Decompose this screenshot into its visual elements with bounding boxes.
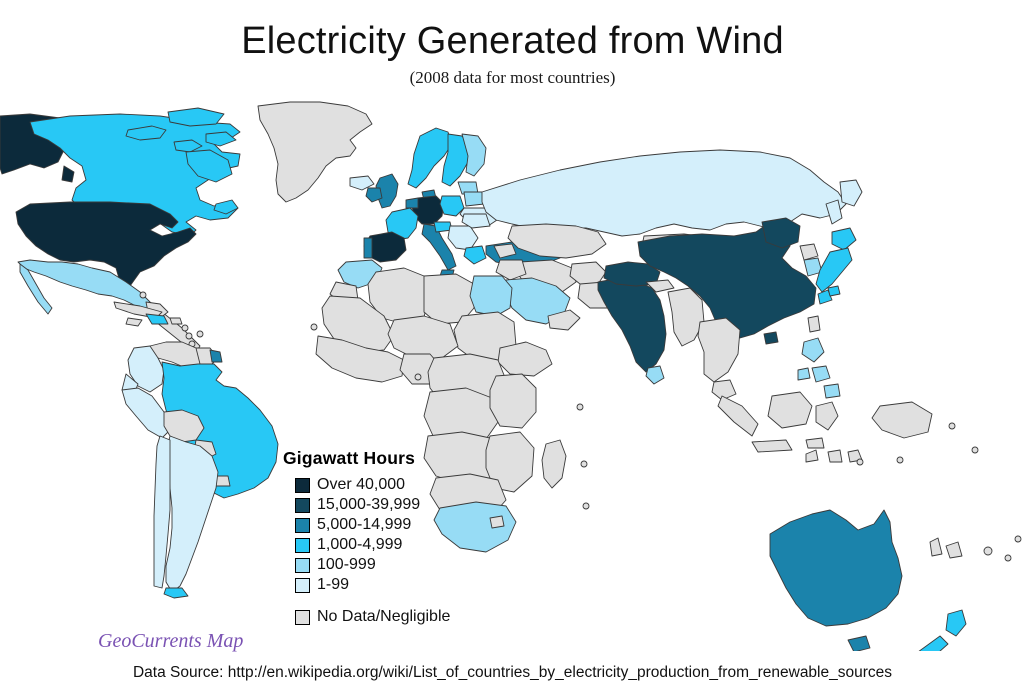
region-new-zealand-north (946, 610, 966, 636)
legend-item-5000-14999: 5,000-14,999 (295, 515, 543, 535)
region-bermuda-dot (311, 324, 317, 330)
region-philippines-1 (802, 338, 824, 362)
region-east-africa (490, 374, 536, 428)
map-page: Electricity Generated from Wind (2008 da… (0, 0, 1025, 691)
legend-label-no-data: No Data/Negligible (317, 609, 450, 625)
region-pacific-dot-3 (897, 457, 903, 463)
region-pacific-dot-4 (972, 447, 978, 453)
page-title: Electricity Generated from Wind (0, 20, 1025, 63)
region-sumatra (718, 396, 758, 436)
legend-swatch-1-99 (295, 578, 310, 593)
region-samoa-dot (1015, 536, 1021, 542)
region-afghanistan (570, 262, 606, 284)
region-indian-ocean-dot-2 (581, 461, 587, 467)
region-caribbean-dot-3 (186, 333, 192, 339)
region-australia (770, 510, 902, 626)
region-japan-hokkaido (832, 228, 856, 250)
region-philippines-2 (812, 366, 830, 382)
map-legend: Gigawatt Hours Over 40,000 15,000-39,999… (283, 448, 543, 627)
region-papua-new-guinea (872, 402, 932, 438)
region-vanuatu (930, 538, 942, 556)
region-indian-ocean-dot-1 (577, 404, 583, 410)
region-pacific-isl-1 (806, 450, 818, 462)
legend-item-1-99: 1-99 (295, 575, 543, 595)
legend-label-1000-4999: 1,000-4,999 (317, 537, 402, 553)
region-japan-shikoku (828, 286, 840, 296)
legend-swatch-15000-39999 (295, 498, 310, 513)
region-fiji-dot (984, 547, 992, 555)
region-french-guiana (210, 350, 222, 362)
region-thailand-indochina (698, 318, 740, 382)
region-caribbean-dot-6 (197, 331, 203, 337)
region-philippines-4 (824, 384, 840, 398)
legend-swatch-no-data (295, 610, 310, 625)
region-indian-ocean-dot-3 (583, 503, 589, 509)
legend-label-1-99: 1-99 (317, 577, 349, 593)
legend-item-1000-4999: 1,000-4,999 (295, 535, 543, 555)
region-hainan (764, 332, 778, 344)
region-sulawesi (816, 402, 838, 430)
region-greece (464, 246, 486, 264)
map-credit: GeoCurrents Map (98, 630, 243, 653)
region-taiwan (808, 316, 820, 332)
region-tierra-del-fuego (164, 588, 188, 598)
region-new-zealand-south (916, 636, 948, 651)
region-sri-lanka (646, 366, 664, 384)
region-canada-arctic-isl-2 (168, 108, 224, 126)
region-caribbean-dot-2 (182, 325, 188, 331)
legend-item-15000-39999: 15,000-39,999 (295, 495, 543, 515)
region-russia-kamchatka (840, 180, 862, 206)
region-tasmania (848, 636, 870, 651)
region-java (752, 440, 792, 452)
region-tonga-dot (1005, 555, 1011, 561)
region-philippines-3 (798, 368, 810, 380)
legend-swatch-100-999 (295, 558, 310, 573)
region-pacific-dot-1 (949, 423, 955, 429)
legend-swatch-5000-14999 (295, 518, 310, 533)
legend-item-100-999: 100-999 (295, 555, 543, 575)
region-caribbean-dot-1 (140, 292, 146, 298)
legend-item-over-40000: Over 40,000 (295, 475, 543, 495)
region-pacific-dot-2 (857, 459, 863, 465)
page-subtitle: (2008 data for most countries) (0, 68, 1025, 88)
region-timor (806, 438, 824, 448)
region-puerto-rico (170, 318, 182, 324)
region-argentina (166, 436, 218, 592)
legend-label-5000-14999: 5,000-14,999 (317, 517, 411, 533)
region-pacific-isl-2 (828, 450, 842, 462)
region-alaska-panhandle (62, 166, 74, 182)
legend-item-no-data: No Data/Negligible (295, 607, 543, 627)
region-japan-honshu (816, 248, 852, 292)
region-atlantic-island-dot-1 (415, 374, 421, 380)
legend-label-100-999: 100-999 (317, 557, 376, 573)
region-new-caledonia (946, 542, 962, 558)
region-belarus (464, 192, 484, 206)
legend-label-over-40000: Over 40,000 (317, 477, 405, 493)
region-netherlands (406, 198, 418, 208)
region-madagascar (542, 440, 566, 488)
legend-swatch-over-40000 (295, 478, 310, 493)
region-egypt (470, 276, 512, 316)
region-north-korea (800, 244, 818, 260)
region-portugal (364, 238, 372, 258)
legend-label-15000-39999: 15,000-39,999 (317, 497, 420, 513)
legend-swatch-1000-4999 (295, 538, 310, 553)
region-borneo (768, 392, 812, 428)
data-source-caption: Data Source: http://en.wikipedia.org/wik… (0, 664, 1025, 682)
region-ethiopia-horn (498, 342, 552, 376)
region-jamaica (126, 318, 142, 326)
region-balkans (448, 226, 478, 250)
legend-title: Gigawatt Hours (283, 448, 543, 469)
